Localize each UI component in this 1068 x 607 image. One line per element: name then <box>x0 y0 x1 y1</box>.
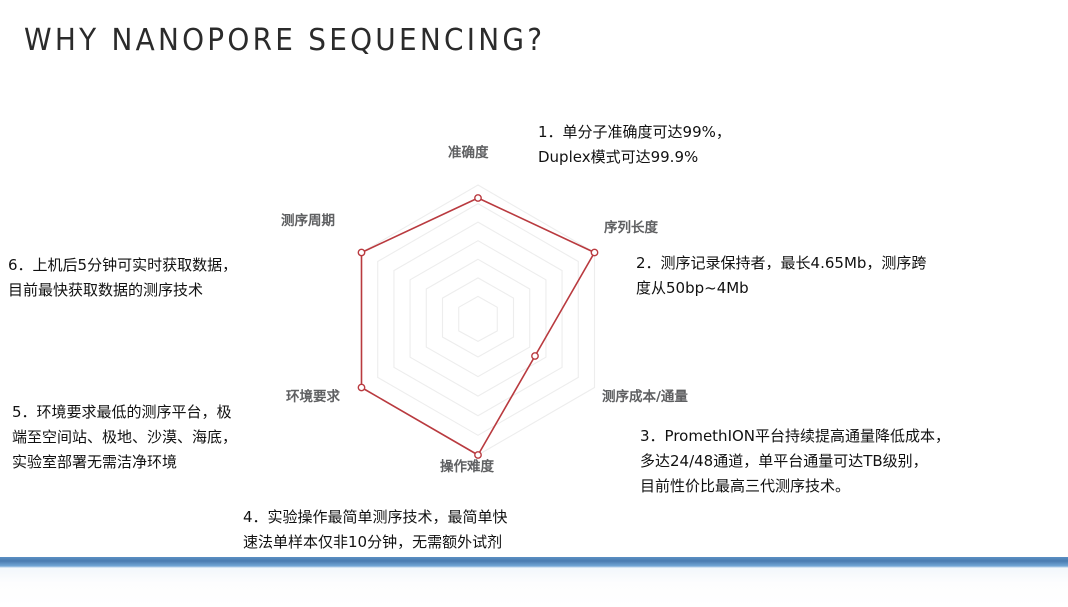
radar-axis-label-cost-throughput: 测序成本/通量 <box>602 385 688 405</box>
annotation-operation-difficulty: 4．实验操作最简单测序技术，最简单快 速法单样本仅非10分钟，无需额外试剂 <box>243 505 623 555</box>
radar-ring-1 <box>459 296 498 341</box>
annotation-environment: 5．环境要求最低的测序平台，极 端至空间站、极地、沙漠、海底， 实验室部署无需洁… <box>12 400 302 475</box>
slide-canvas: WHY NANOPORE SEQUENCING? <box>0 0 1068 607</box>
radar-axis-label-read-length: 序列长度 <box>604 216 658 236</box>
radar-series-polygon <box>362 198 595 455</box>
footer-bar: 宝诚生物 Oxford <box>0 557 1068 607</box>
page-title: WHY NANOPORE SEQUENCING? <box>24 22 545 60</box>
radar-ring-6 <box>378 204 579 436</box>
radar-ring-3 <box>426 259 529 376</box>
radar-chart-svg <box>288 130 668 495</box>
radar-point-read-length <box>591 249 597 255</box>
radar-point-accuracy <box>475 195 481 201</box>
radar-chart <box>288 130 668 495</box>
radar-axis-label-operation-difficulty: 操作难度 <box>440 455 494 475</box>
radar-point-cost-throughput <box>532 353 538 359</box>
radar-point-sequencing-cycle <box>358 249 364 255</box>
radar-ring-2 <box>443 278 514 357</box>
radar-point-environment <box>358 384 364 390</box>
annotation-read-length: 2．测序记录保持者，最长4.65Mb，测序跨 度从50bp~4Mb <box>636 251 1036 301</box>
annotation-accuracy: 1．单分子准确度可达99%， Duplex模式可达99.9% <box>538 120 868 170</box>
radar-axis-label-accuracy: 准确度 <box>448 141 489 161</box>
annotation-cost-throughput: 3．PromethION平台持续提高通量降低成本， 多达24/48通道，单平台通… <box>640 424 1050 499</box>
annotation-sequencing-cycle: 6．上机后5分钟可实时获取数据， 目前最快获取数据的测序技术 <box>8 253 298 303</box>
radar-axis-label-sequencing-cycle: 测序周期 <box>281 209 335 229</box>
radar-ring-5 <box>394 222 562 416</box>
radar-ring-7 <box>362 185 595 455</box>
radar-grid <box>362 185 595 455</box>
